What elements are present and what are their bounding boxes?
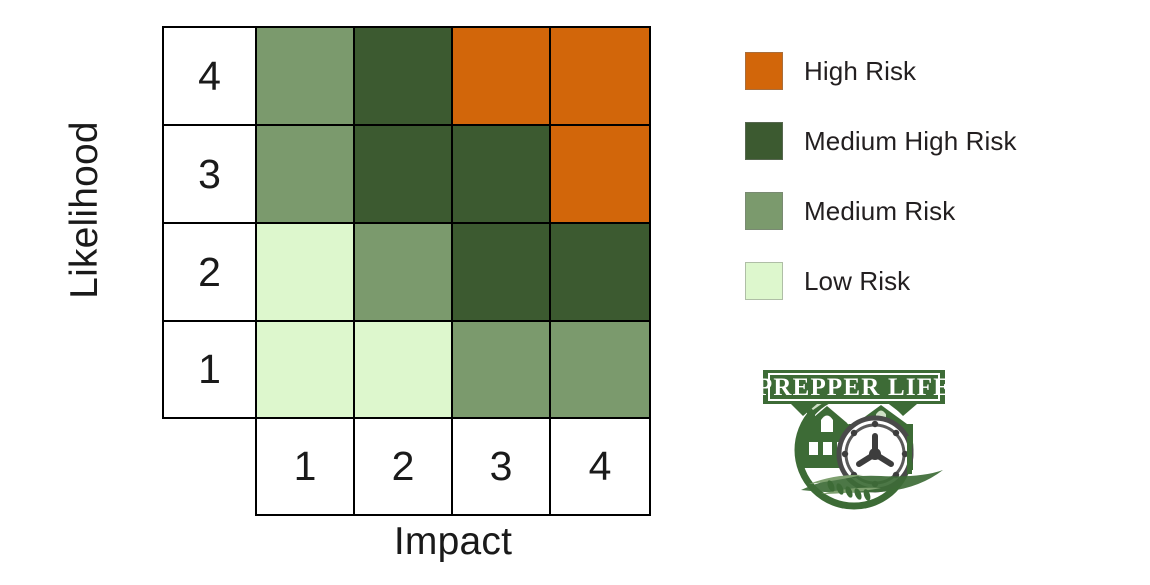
legend-item-medium-risk[interactable]: Medium Risk — [745, 176, 1085, 246]
legend-swatch-high-risk — [745, 52, 783, 90]
legend-item-low-risk[interactable]: Low Risk — [745, 246, 1085, 316]
matrix-cell-i3-l3[interactable] — [451, 124, 552, 225]
matrix-cell-i1-l2[interactable] — [255, 222, 356, 323]
matrix-cell-i4-l1[interactable] — [549, 320, 652, 420]
legend-item-medium-high-risk[interactable]: Medium High Risk — [745, 106, 1085, 176]
x-axis-tick-1: 1 — [255, 417, 356, 517]
legend-swatch-medium-risk — [745, 192, 783, 230]
y-axis-tick-1: 1 — [162, 320, 258, 420]
logo-wordmark: PREPPER LIFE — [757, 374, 951, 401]
matrix-cell-i2-l3[interactable] — [353, 124, 454, 225]
matrix-cell-i4-l2[interactable] — [549, 222, 652, 323]
y-axis-tick-3: 3 — [162, 124, 258, 225]
legend-label-low-risk: Low Risk — [804, 266, 910, 297]
y-axis-title-text: Likelihood — [63, 121, 107, 299]
matrix-cell-i2-l2[interactable] — [353, 222, 454, 323]
risk-matrix-figure: Likelihood 4 3 2 1 1 2 3 4 Impact — [0, 0, 700, 585]
legend-label-medium-high-risk: Medium High Risk — [804, 126, 1017, 157]
matrix-cell-i2-l4[interactable] — [353, 26, 454, 127]
matrix-cell-i3-l4[interactable] — [451, 26, 552, 127]
matrix-cell-i1-l4[interactable] — [255, 26, 356, 127]
legend-label-medium-risk: Medium Risk — [804, 196, 955, 227]
matrix-cell-i4-l3[interactable] — [549, 124, 652, 225]
risk-matrix-grid: 4 3 2 1 1 2 3 4 — [163, 27, 650, 515]
x-axis-tick-4: 4 — [549, 417, 652, 517]
matrix-cell-i1-l3[interactable] — [255, 124, 356, 225]
y-axis-tick-2: 2 — [162, 222, 258, 323]
matrix-cell-i3-l2[interactable] — [451, 222, 552, 323]
x-axis-tick-3: 3 — [451, 417, 552, 517]
risk-legend: High Risk Medium High Risk Medium Risk L… — [745, 36, 1085, 316]
matrix-corner-spacer — [162, 417, 258, 517]
legend-item-high-risk[interactable]: High Risk — [745, 36, 1085, 106]
y-axis-tick-4: 4 — [162, 26, 258, 127]
legend-swatch-medium-high-risk — [745, 122, 783, 160]
matrix-cell-i2-l1[interactable] — [353, 320, 454, 420]
prepper-life-logo[interactable]: PREPPER LIFE — [757, 358, 951, 513]
x-axis-title: Impact — [255, 520, 651, 564]
prepper-life-logo-icon: PREPPER LIFE — [757, 358, 951, 513]
legend-swatch-low-risk — [745, 262, 783, 300]
matrix-cell-i3-l1[interactable] — [451, 320, 552, 420]
x-axis-tick-2: 2 — [353, 417, 454, 517]
matrix-cell-i1-l1[interactable] — [255, 320, 356, 420]
legend-label-high-risk: High Risk — [804, 56, 916, 87]
matrix-cell-i4-l4[interactable] — [549, 26, 652, 127]
y-axis-title: Likelihood — [0, 0, 175, 420]
